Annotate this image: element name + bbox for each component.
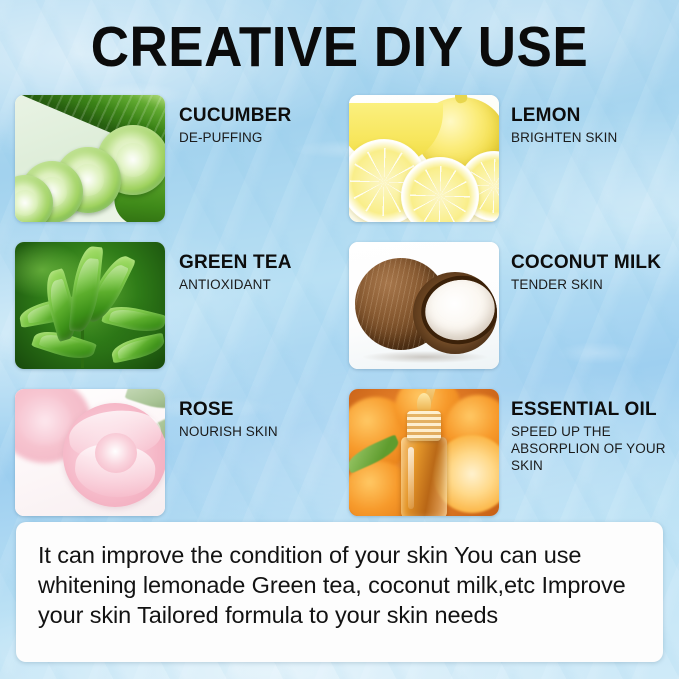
ingredient-desc: BRIGHTEN SKIN — [511, 129, 675, 146]
coconut-photo — [349, 242, 499, 369]
ingredient-text: CUCUMBER DE-PUFFING — [179, 105, 343, 146]
ingredient-grid: CUCUMBER DE-PUFFING LEMON BRIGHTEN SKIN — [0, 95, 679, 536]
ingredient-name: CUCUMBER — [179, 105, 343, 126]
ingredient-text: COCONUT MILK TENDER SKIN — [511, 252, 675, 293]
cucumber-photo — [15, 95, 165, 222]
ingredient-name: ROSE — [179, 399, 343, 420]
ingredient-row: ROSE NOURISH SKIN — [0, 389, 679, 536]
ingredient-name: GREEN TEA — [179, 252, 343, 273]
ingredient-card-green-tea[interactable]: GREEN TEA ANTIOXIDANT — [15, 242, 345, 389]
ingredient-text: ROSE NOURISH SKIN — [179, 399, 343, 440]
ingredient-desc: TENDER SKIN — [511, 276, 675, 293]
description-box: It can improve the condition of your ski… — [16, 522, 663, 662]
ingredient-desc: NOURISH SKIN — [179, 423, 343, 440]
ingredient-card-lemon[interactable]: LEMON BRIGHTEN SKIN — [349, 95, 679, 242]
ingredient-name: COCONUT MILK — [511, 252, 675, 273]
ingredient-text: LEMON BRIGHTEN SKIN — [511, 105, 675, 146]
ingredient-desc: SPEED UP THE ABSORPLION OF YOUR SKIN — [511, 423, 675, 474]
ingredient-row: CUCUMBER DE-PUFFING LEMON BRIGHTEN SKIN — [0, 95, 679, 242]
ingredient-text: GREEN TEA ANTIOXIDANT — [179, 252, 343, 293]
ingredient-card-coconut-milk[interactable]: COCONUT MILK TENDER SKIN — [349, 242, 679, 389]
ingredient-name: LEMON — [511, 105, 675, 126]
rose-photo — [15, 389, 165, 516]
page-title: CREATIVE DIY USE — [24, 17, 655, 77]
ingredient-desc: DE-PUFFING — [179, 129, 343, 146]
ingredient-card-rose[interactable]: ROSE NOURISH SKIN — [15, 389, 345, 536]
ingredient-name: ESSENTIAL OIL — [511, 399, 675, 420]
description-text: It can improve the condition of your ski… — [38, 540, 641, 630]
ingredient-card-essential-oil[interactable]: ESSENTIAL OIL SPEED UP THE ABSORPLION OF… — [349, 389, 679, 536]
ingredient-card-cucumber[interactable]: CUCUMBER DE-PUFFING — [15, 95, 345, 242]
ingredient-desc: ANTIOXIDANT — [179, 276, 343, 293]
essential-oil-photo — [349, 389, 499, 516]
ingredient-row: GREEN TEA ANTIOXIDANT COCONUT MILK TENDE… — [0, 242, 679, 389]
green-tea-photo — [15, 242, 165, 369]
ingredient-text: ESSENTIAL OIL SPEED UP THE ABSORPLION OF… — [511, 399, 675, 474]
lemon-photo — [349, 95, 499, 222]
